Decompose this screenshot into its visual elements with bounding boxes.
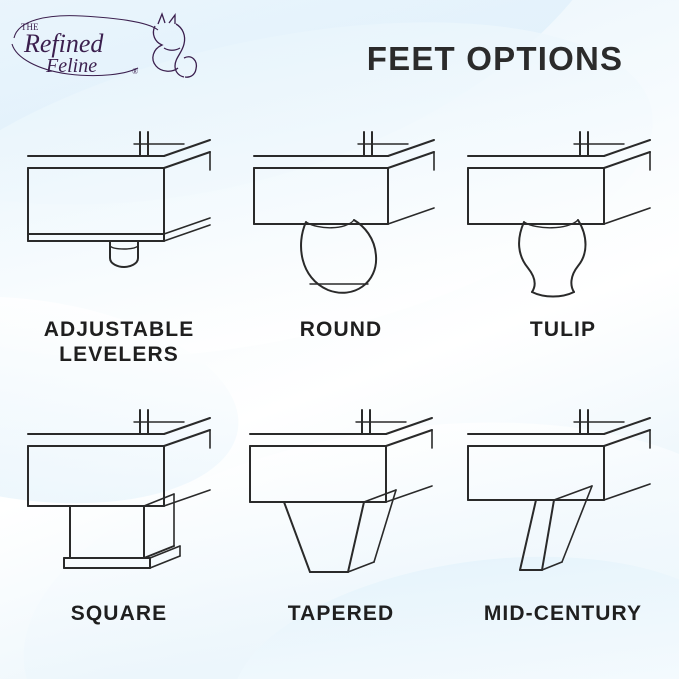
option-label-mid-century: MID-CENTURY xyxy=(458,601,668,626)
tulip-illustration xyxy=(458,118,668,313)
round-illustration xyxy=(236,118,446,313)
logo-line2: Refined xyxy=(23,29,104,58)
page-title: FEET OPTIONS xyxy=(330,40,660,78)
option-label-square: SQUARE xyxy=(14,601,224,626)
option-square: SQUARE xyxy=(14,400,224,626)
option-tulip: TULIP xyxy=(458,118,668,342)
tapered-illustration xyxy=(236,400,446,595)
cat-silhouette-icon xyxy=(153,14,197,77)
option-label-adjustable-levelers: ADJUSTABLE LEVELERS xyxy=(14,317,224,367)
option-label-round: ROUND xyxy=(236,317,446,342)
adjustable-levelers-illustration xyxy=(14,118,224,313)
logo-trademark: ® xyxy=(132,67,138,76)
option-tapered: TAPERED xyxy=(236,400,446,626)
option-mid-century: MID-CENTURY xyxy=(458,400,668,626)
brand-logo: THE Refined Feline ® xyxy=(8,8,204,90)
option-round: ROUND xyxy=(236,118,446,342)
option-adjustable-levelers: ADJUSTABLE LEVELERS xyxy=(14,118,224,367)
logo-line3: Feline xyxy=(45,55,97,77)
feet-options-infographic: THE Refined Feline ® FEET OPTIONS xyxy=(0,0,679,679)
mid-century-illustration xyxy=(458,400,668,595)
option-label-tulip: TULIP xyxy=(458,317,668,342)
square-illustration xyxy=(14,400,224,595)
option-label-tapered: TAPERED xyxy=(236,601,446,626)
